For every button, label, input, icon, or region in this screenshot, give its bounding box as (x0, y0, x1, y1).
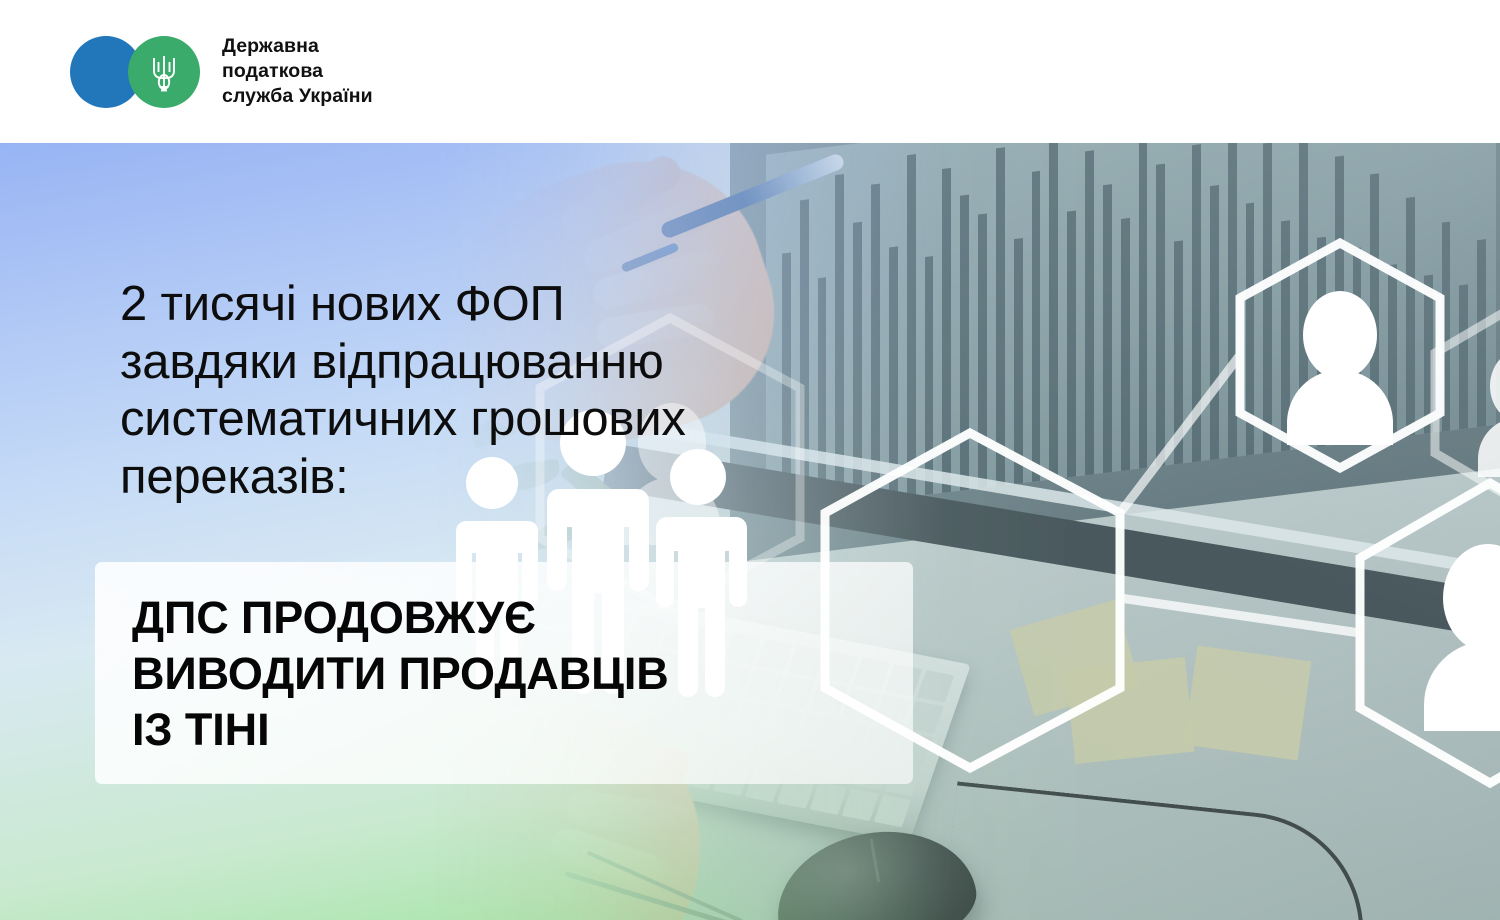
page-title: 2 тисячі нових ФОП завдяки відпрацюванню… (120, 276, 980, 506)
headline-line-3: систематичних грошових (120, 391, 980, 449)
logo-text-line-1: Державна (222, 34, 373, 59)
logo-text-line-2: податкова (222, 59, 373, 84)
callout-text: ДПС ПРОДОВЖУЄ ВИВОДИТИ ПРОДАВЦІВ ІЗ ТІНІ (132, 590, 892, 758)
headline-line-2: завдяки відпрацюванню (120, 334, 980, 392)
callout-line-2: ВИВОДИТИ ПРОДАВЦІВ (132, 646, 892, 702)
headline-line-1: 2 тисячі нових ФОП (120, 276, 980, 334)
logo-text-line-3: служба України (222, 84, 373, 109)
poster: Державна податкова служба України (0, 0, 1500, 920)
ukraine-trident-icon (128, 36, 200, 108)
logo-marks (70, 36, 200, 108)
callout-box: ДПС ПРОДОВЖУЄ ВИВОДИТИ ПРОДАВЦІВ ІЗ ТІНІ (95, 562, 913, 784)
callout-line-1: ДПС ПРОДОВЖУЄ (132, 590, 892, 646)
callout-line-3: ІЗ ТІНІ (132, 702, 892, 758)
agency-logo: Державна податкова служба України (70, 34, 373, 109)
office-desk-photo (430, 143, 1500, 920)
headline-line-4: переказів: (120, 449, 980, 507)
header-band: Державна податкова служба України (0, 0, 1500, 143)
photo-color-wash (430, 143, 1500, 920)
agency-logo-text: Державна податкова служба України (222, 34, 373, 109)
